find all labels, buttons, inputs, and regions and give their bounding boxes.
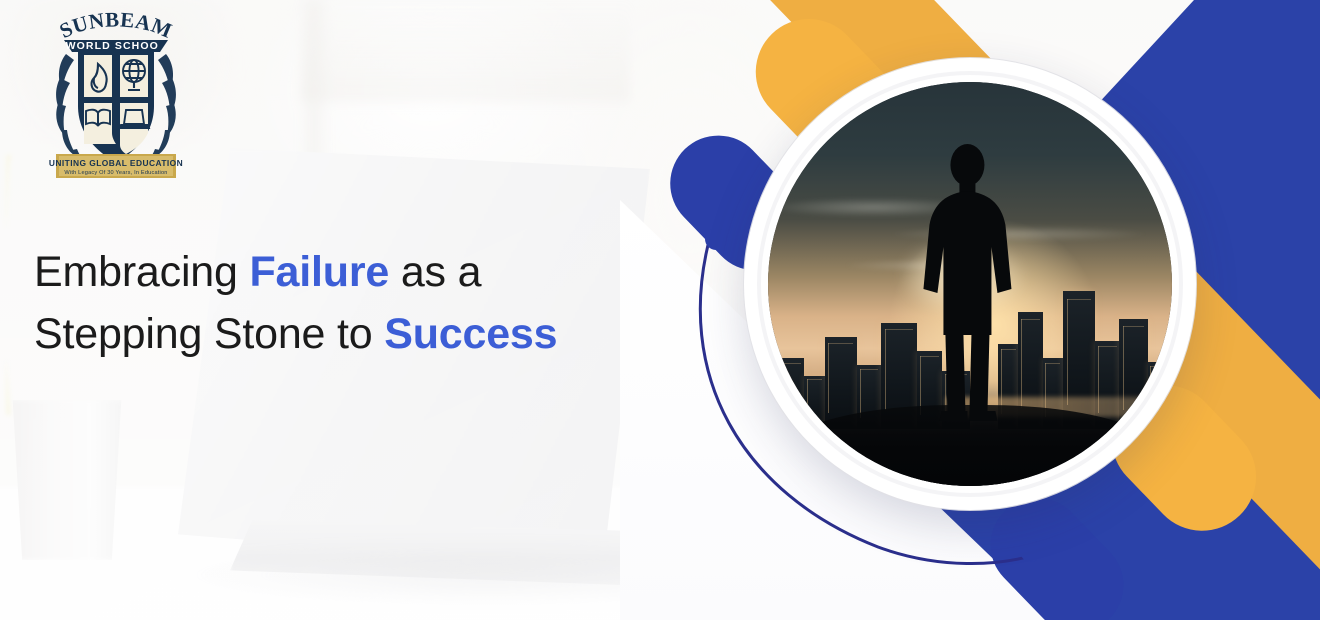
headline-line-1: Embracing Failure as a bbox=[34, 241, 694, 303]
svg-text:SUNBEAM: SUNBEAM bbox=[56, 8, 176, 43]
headline-text-1: Embracing bbox=[34, 248, 249, 296]
sunset-sky bbox=[768, 82, 1172, 486]
medallion-photo bbox=[768, 82, 1172, 486]
headline-line-2: Stepping Stone to Success bbox=[34, 303, 694, 365]
headline-text-2: as a bbox=[389, 248, 481, 296]
blue-dot-bottom bbox=[1020, 540, 1042, 562]
blue-dot-top bbox=[705, 228, 727, 250]
clouds bbox=[768, 171, 1172, 292]
headline-text-3: Stepping Stone to bbox=[34, 310, 384, 358]
waterfront-lights bbox=[946, 397, 1172, 417]
logo-school-name: SUNBEAM bbox=[56, 8, 176, 43]
headline-accent-failure: Failure bbox=[249, 248, 389, 296]
foreground-hill bbox=[768, 405, 1172, 486]
logo-tagline: With Legacy Of 30 Years, In Education bbox=[64, 170, 167, 176]
page-title: Embracing Failure as a Stepping Stone to… bbox=[34, 241, 694, 365]
school-logo[interactable]: SUNBEAM WORLD SCHOOL UNITING GLOBAL EDUC… bbox=[42, 8, 190, 184]
logo-ribbon-text: UNITING GLOBAL EDUCATION bbox=[49, 158, 183, 168]
businessman-silhouette bbox=[903, 139, 1031, 429]
city-skyline bbox=[768, 252, 1172, 430]
plant-pot bbox=[8, 400, 126, 560]
sun-glow bbox=[897, 236, 1027, 316]
blog-hero-banner: SUNBEAM WORLD SCHOOL UNITING GLOBAL EDUC… bbox=[0, 0, 1320, 620]
circular-photo-medallion bbox=[744, 58, 1196, 510]
headline-accent-success: Success bbox=[384, 310, 557, 358]
